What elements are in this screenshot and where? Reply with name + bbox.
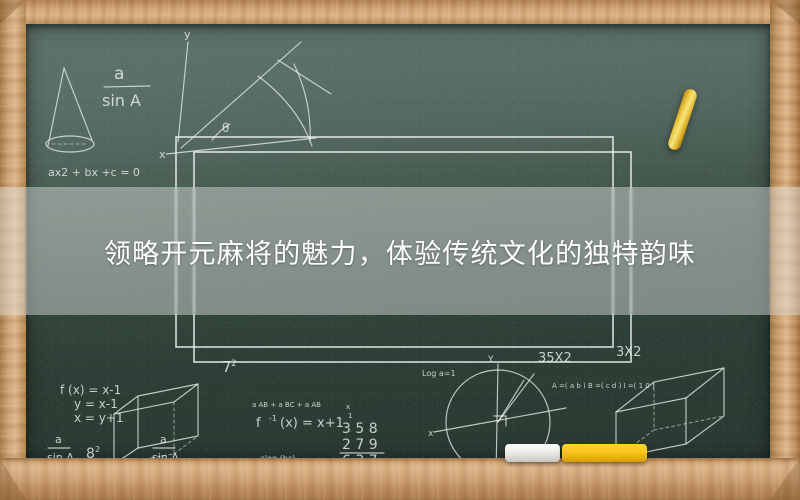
svg-text:6 3 7: 6 3 7 bbox=[342, 453, 378, 458]
svg-text:sin A: sin A bbox=[102, 91, 141, 110]
chalk-fraction-a-over-sinA-top: a sin A bbox=[102, 64, 150, 110]
banner-headline: 领略开元麻将的魅力，体验传统文化的独特韵味 bbox=[0, 187, 800, 315]
chalk-label-35x2: 35X2 bbox=[538, 351, 572, 366]
white-eraser bbox=[505, 444, 560, 462]
svg-text:x: x bbox=[159, 148, 166, 161]
chalk-fraction-a-over-sinA-left: a sin A bbox=[47, 433, 74, 458]
chalk-fraction-a-over-sinA-center: a sin A bbox=[152, 433, 179, 458]
svg-text:sin A: sin A bbox=[47, 451, 74, 458]
svg-text:-1: -1 bbox=[269, 414, 277, 423]
chalkboard-scene: .ck { fill:none; stroke:#e3ebe6; stroke-… bbox=[0, 0, 800, 500]
chalk-number-grid: x 1 3 5 8 2 7 9 6 3 7 bbox=[340, 403, 384, 458]
chalk-cube-left bbox=[114, 384, 198, 458]
svg-text:8: 8 bbox=[86, 446, 95, 458]
svg-text:2 7 9: 2 7 9 bbox=[342, 437, 378, 453]
svg-text:2: 2 bbox=[231, 359, 237, 369]
svg-text:x: x bbox=[428, 429, 434, 439]
svg-text:y = x-1: y = x-1 bbox=[74, 397, 118, 411]
svg-text:θ: θ bbox=[222, 121, 229, 135]
svg-text:2: 2 bbox=[95, 445, 100, 454]
svg-text:Y: Y bbox=[487, 355, 494, 365]
chalk-alog-bc: alog (bc) bbox=[260, 454, 295, 458]
svg-text:f (x) = x-1: f (x) = x-1 bbox=[60, 383, 121, 397]
svg-text:sin A: sin A bbox=[152, 451, 179, 458]
svg-text:1: 1 bbox=[348, 412, 352, 420]
frame-top-rail bbox=[0, 0, 800, 24]
svg-text:a: a bbox=[114, 64, 124, 84]
svg-text:(x) = x+1: (x) = x+1 bbox=[280, 416, 344, 431]
chalk-label-3x2: 3X2 bbox=[616, 345, 641, 360]
chalk-matrix-row: A =( a b ) B =( c d ) I =( 1 0 ) bbox=[552, 382, 655, 390]
frame-bottom-ledge bbox=[0, 458, 800, 500]
svg-text:f: f bbox=[256, 416, 261, 431]
chalk-inverse-function: f -1 (x) = x+1 bbox=[256, 414, 344, 431]
chalk-cone bbox=[46, 68, 94, 152]
svg-text:a: a bbox=[160, 433, 167, 446]
svg-text:3 5 8: 3 5 8 bbox=[342, 421, 378, 437]
yellow-eraser bbox=[562, 444, 647, 462]
chalk-small-expression: a AB + a BC + a AB bbox=[252, 401, 321, 409]
chalk-seven-squared: 7 2 bbox=[222, 358, 237, 376]
chalk-quadratic-equation: ax2 + bx +c = 0 bbox=[48, 166, 140, 179]
svg-text:x: x bbox=[346, 403, 350, 411]
chalk-angle-diagram: y x θ bbox=[159, 28, 331, 161]
chalk-log-a: Log a=1 bbox=[422, 369, 456, 378]
svg-text:a: a bbox=[55, 433, 62, 446]
chalk-eight-squared: 8 2 bbox=[86, 445, 100, 458]
svg-text:y: y bbox=[184, 28, 191, 41]
